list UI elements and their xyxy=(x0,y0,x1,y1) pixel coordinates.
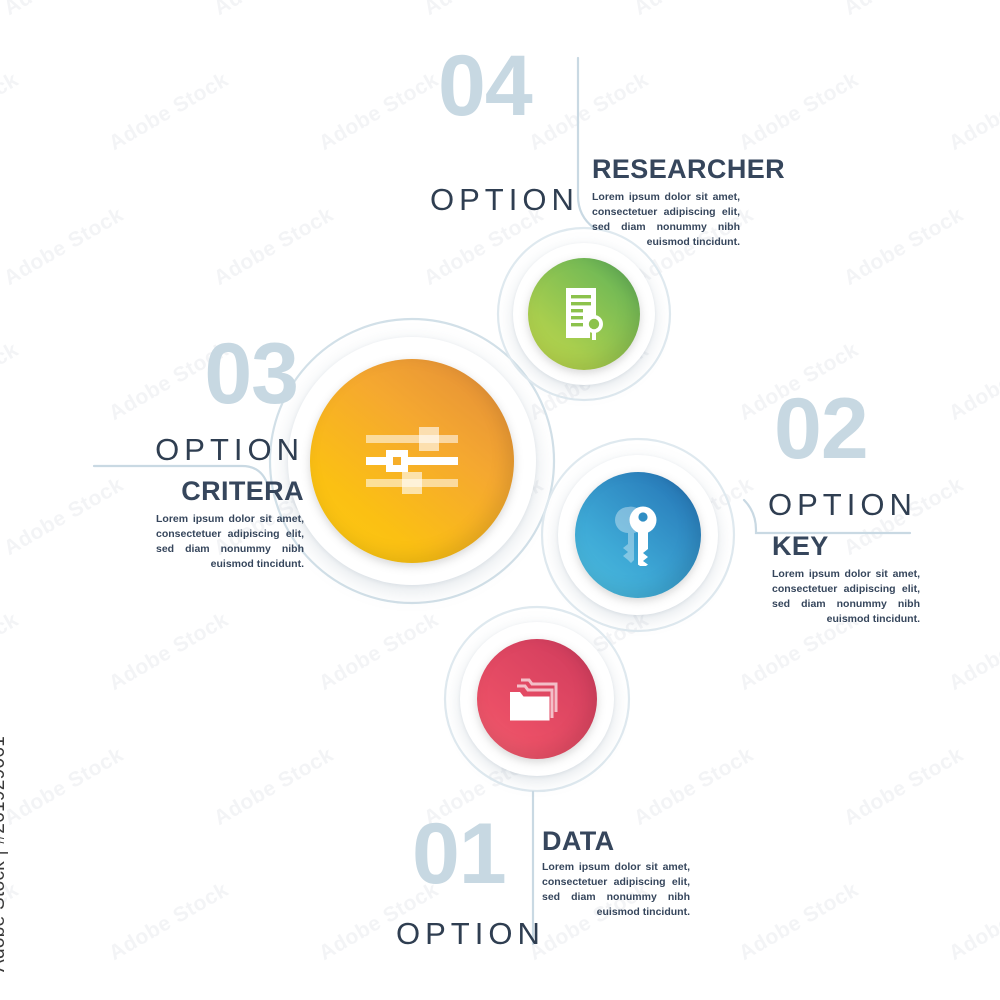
watermark-text: Adobe Stock xyxy=(840,0,968,21)
option-number-03: 03 xyxy=(204,338,298,412)
watermark-text: Adobe Stock xyxy=(0,0,128,21)
option-number-04: 04 xyxy=(438,50,532,124)
watermark-text: Adobe Stock xyxy=(525,68,653,156)
node-data[interactable] xyxy=(460,622,614,776)
watermark-text: Adobe Stock xyxy=(105,68,233,156)
watermark-text: Adobe Stock xyxy=(0,68,23,156)
node-key[interactable] xyxy=(558,455,718,615)
option-number-01: 01 xyxy=(412,818,506,892)
watermark-text: Adobe Stock xyxy=(315,608,443,696)
watermark-text: Adobe Stock xyxy=(420,0,548,21)
option-label-01: OPTION xyxy=(396,918,545,949)
option-number-02: 02 xyxy=(774,393,868,467)
option-label-03: OPTION xyxy=(155,434,304,465)
watermark-text: Adobe Stock xyxy=(945,608,1000,696)
node-criteria[interactable] xyxy=(288,337,536,585)
option-body-01: Lorem ipsum dolor sit amet, consectetuer… xyxy=(542,860,690,920)
watermark-text: Adobe Stock xyxy=(0,743,128,831)
criteria-disc xyxy=(310,359,514,563)
option-label-04: OPTION xyxy=(430,184,579,215)
watermark-text: Adobe Stock xyxy=(210,0,338,21)
watermark-text: Adobe Stock xyxy=(630,743,758,831)
folders-icon xyxy=(507,673,567,725)
option-label-02: OPTION xyxy=(768,489,917,520)
watermark-text: Adobe Stock xyxy=(945,68,1000,156)
option-headline-04: RESEARCHER xyxy=(592,156,785,183)
watermark-text: Adobe Stock xyxy=(945,338,1000,426)
watermark-text: Adobe Stock xyxy=(735,68,863,156)
watermark-text: Adobe Stock xyxy=(735,878,863,966)
watermark-text: Adobe Stock xyxy=(840,743,968,831)
watermark-text: Adobe Stock xyxy=(945,878,1000,966)
key-disc xyxy=(575,472,701,598)
watermark-text: Adobe Stock xyxy=(210,203,338,291)
node-researcher[interactable] xyxy=(513,243,655,385)
watermark-text: Adobe Stock xyxy=(630,0,758,21)
option-headline-02: KEY xyxy=(772,533,829,560)
option-headline-03: CRITERA xyxy=(181,478,304,505)
watermark-text: Adobe Stock xyxy=(840,203,968,291)
watermark-text: Adobe Stock xyxy=(0,473,128,561)
option-headline-01: DATA xyxy=(542,828,615,855)
sliders-icon xyxy=(364,427,460,495)
watermark-text: Adobe Stock xyxy=(315,68,443,156)
researcher-disc xyxy=(528,258,640,370)
watermark-text: Adobe Stock xyxy=(210,743,338,831)
document-search-icon xyxy=(560,286,608,342)
key-icon xyxy=(610,504,666,566)
option-body-03: Lorem ipsum dolor sit amet, consectetuer… xyxy=(156,512,304,572)
watermark-text: Adobe Stock xyxy=(0,608,23,696)
data-disc xyxy=(477,639,597,759)
infographic-canvas: Adobe StockAdobe StockAdobe StockAdobe S… xyxy=(0,0,1000,1000)
watermark-text: Adobe Stock xyxy=(0,338,23,426)
stock-watermark-id: Adobe Stock | #261929061 xyxy=(0,736,10,972)
watermark-text: Adobe Stock xyxy=(105,608,233,696)
watermark-text: Adobe Stock xyxy=(0,203,128,291)
watermark-text: Adobe Stock xyxy=(105,878,233,966)
option-body-04: Lorem ipsum dolor sit amet, consectetuer… xyxy=(592,190,740,250)
option-body-02: Lorem ipsum dolor sit amet, consectetuer… xyxy=(772,567,920,627)
